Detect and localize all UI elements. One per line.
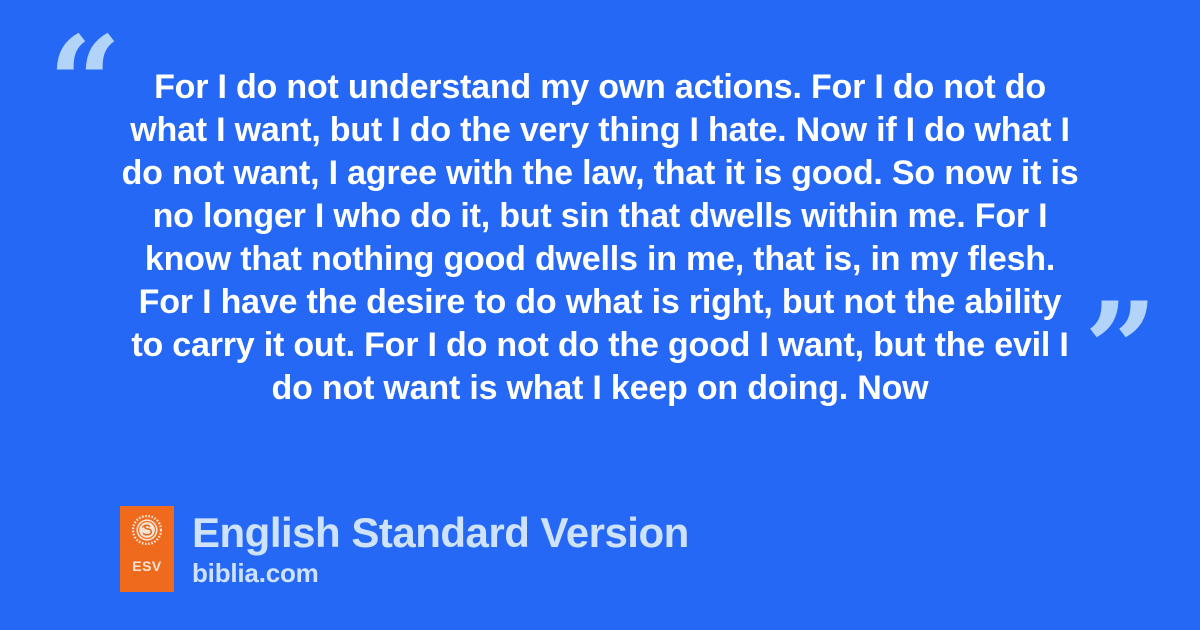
- esv-logo: ESV: [120, 506, 174, 592]
- closing-quote-icon: ”: [1084, 286, 1156, 414]
- site-url-label: biblia.com: [192, 558, 689, 588]
- esv-crown-seal-icon: [132, 515, 162, 545]
- esv-logo-label: ESV: [132, 559, 162, 573]
- opening-quote-icon: “: [48, 20, 120, 148]
- attribution-footer: ESV English Standard Version biblia.com: [120, 506, 689, 592]
- quote-card: “ For I do not understand my own actions…: [0, 0, 1200, 630]
- attribution-text-group: English Standard Version biblia.com: [192, 510, 689, 588]
- quote-body-text: For I do not understand my own actions. …: [110, 66, 1090, 410]
- bible-version-name: English Standard Version: [192, 510, 689, 556]
